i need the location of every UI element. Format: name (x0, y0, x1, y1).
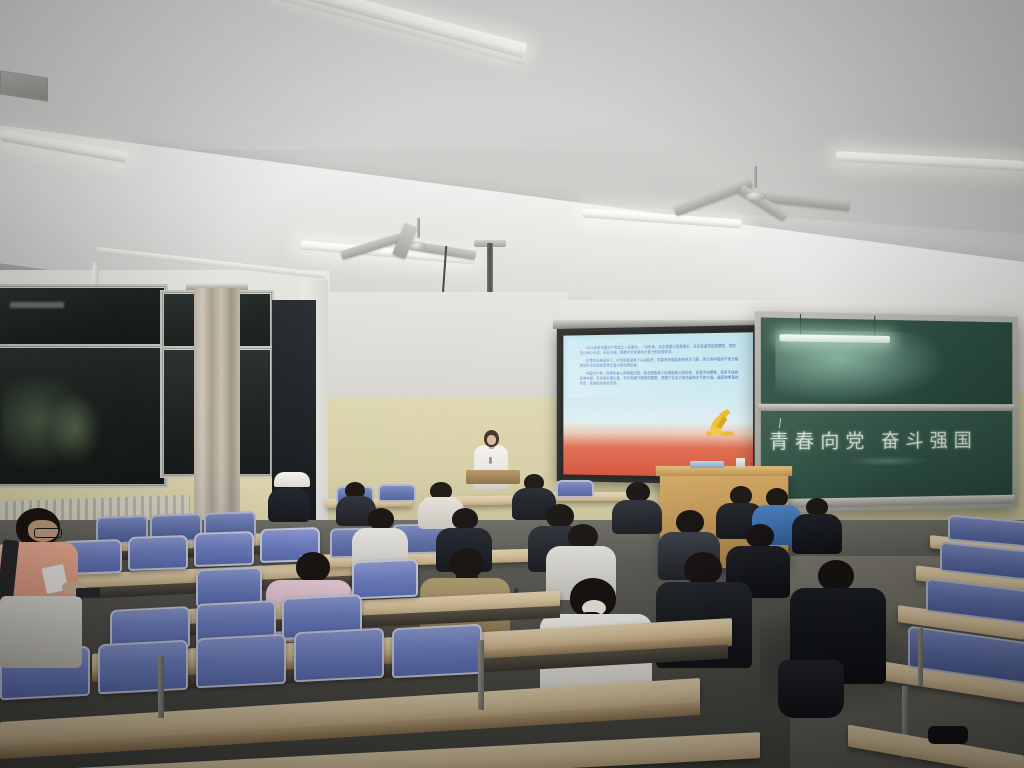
chair[interactable] (392, 624, 482, 679)
student-body (268, 488, 310, 522)
backpack (0, 596, 82, 668)
student-head (626, 482, 650, 502)
presenter-lanyard (489, 457, 492, 464)
chair[interactable] (98, 640, 188, 695)
student-body (612, 500, 662, 534)
chalk-smudge (846, 456, 929, 467)
slide-paragraph: 在党的正确领导下，中华民族迎来了从站起来、富起来到强起来的伟大飞跃。也只有中国共… (580, 357, 739, 369)
glasses-icon (34, 528, 62, 538)
blackboard-upper-panel[interactable] (761, 317, 1012, 404)
student-head (452, 508, 478, 530)
wall-middle-upper (318, 292, 568, 402)
window-curtain[interactable] (194, 288, 240, 550)
student-body (792, 514, 842, 554)
chair[interactable] (128, 535, 188, 571)
desk-leg (158, 656, 164, 718)
slide-text-block: 2021年是中国共产党成立一百周年。一百年来，无论是国小还是强大，无论是逆境还是… (580, 344, 739, 389)
student-head (684, 552, 722, 585)
blackboard-middle-rail (759, 404, 1014, 411)
slide-paragraph: 中国共产党一百周年奋斗的辉煌历程，是全国各族人民团结奋斗的历史，也是不怕牺牲、百… (580, 370, 739, 386)
presenter-face (487, 435, 496, 445)
blackboard[interactable]: 青春向党 奋斗强国 (755, 311, 1018, 513)
desk-leg (478, 640, 484, 710)
lectern-cup (736, 458, 745, 468)
student-head (818, 560, 854, 591)
student-head (296, 552, 330, 582)
lectern-papers (690, 461, 724, 468)
window-upper-left (0, 284, 168, 348)
student-head (368, 508, 394, 530)
student-head (676, 510, 704, 534)
white-cap (274, 472, 310, 487)
window-foliage-reflection (48, 392, 102, 464)
fan-hub (410, 242, 426, 251)
student-head (746, 524, 774, 548)
window-light-reflection (10, 302, 64, 308)
presentation-slide: 2021年是中国共产党成立一百周年。一百年来，无论是国小还是强大，无论是逆境还是… (563, 332, 753, 477)
blackboard-slogan: 青春向党 奋斗强国 (769, 426, 995, 454)
front-table (466, 470, 520, 484)
lamp-suspension-wire (800, 314, 801, 336)
chair[interactable] (196, 634, 286, 689)
chair[interactable] (294, 628, 384, 683)
fan-hub (746, 192, 766, 201)
cpc-hammer-sickle-emblem (700, 405, 741, 440)
chair[interactable] (194, 531, 254, 567)
chair[interactable] (352, 559, 418, 600)
backpack-on-floor (778, 660, 844, 718)
student-head (546, 504, 574, 528)
phone-device (76, 588, 100, 597)
desk-leg (918, 628, 923, 686)
lectern-top-surface (656, 466, 792, 476)
ceiling-slab (0, 0, 1024, 150)
slide-paragraph: 2021年是中国共产党成立一百周年。一百年来，无论是国小还是强大，无论是逆境还是… (580, 344, 739, 356)
fan-rod (754, 166, 757, 188)
window-glass (0, 288, 164, 344)
classroom-photo: 2021年是中国共产党成立一百周年。一百年来，无论是国小还是强大，无论是逆境还是… (0, 0, 1024, 768)
chair[interactable] (556, 480, 594, 498)
projection-screen[interactable]: 2021年是中国共产党成立一百周年。一百年来，无论是国小还是强大，无论是逆境还是… (557, 325, 761, 485)
bag-on-floor (928, 726, 968, 744)
chair[interactable] (378, 484, 416, 502)
